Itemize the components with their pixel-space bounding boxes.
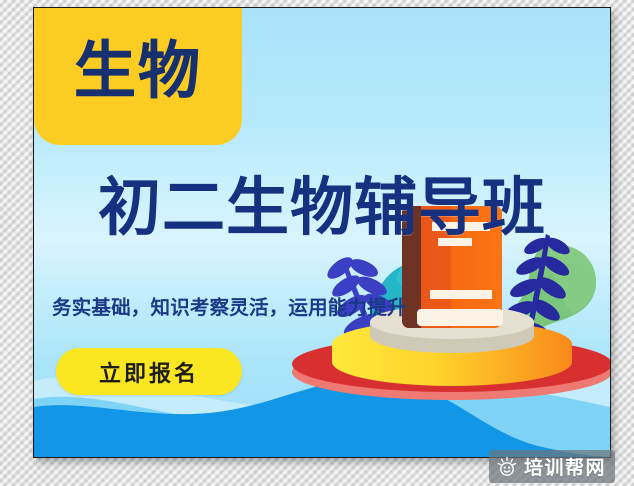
subtitle-text: 务实基础，知识考察灵活，运用能力提升 xyxy=(52,291,407,320)
book-pages xyxy=(417,309,503,326)
book-title-line-3 xyxy=(430,290,492,299)
enroll-now-button[interactable]: 立即报名 xyxy=(56,348,242,395)
subject-badge: 生物 xyxy=(34,7,242,145)
page-title: 初二生物辅导班 xyxy=(34,176,610,240)
sun-face-icon xyxy=(496,456,518,478)
course-banner: 生物 初二生物辅导班 务实基础，知识考察灵活，运用能力提升 立即报名 xyxy=(33,7,611,458)
subject-badge-label: 生物 xyxy=(74,41,202,109)
watermark-text: 培训帮网 xyxy=(524,453,606,480)
watermark: 培训帮网 xyxy=(489,450,615,483)
page-backdrop: 生物 初二生物辅导班 务实基础，知识考察灵活，运用能力提升 立即报名 培训帮网 xyxy=(0,0,634,486)
enroll-now-label: 立即报名 xyxy=(99,356,199,388)
